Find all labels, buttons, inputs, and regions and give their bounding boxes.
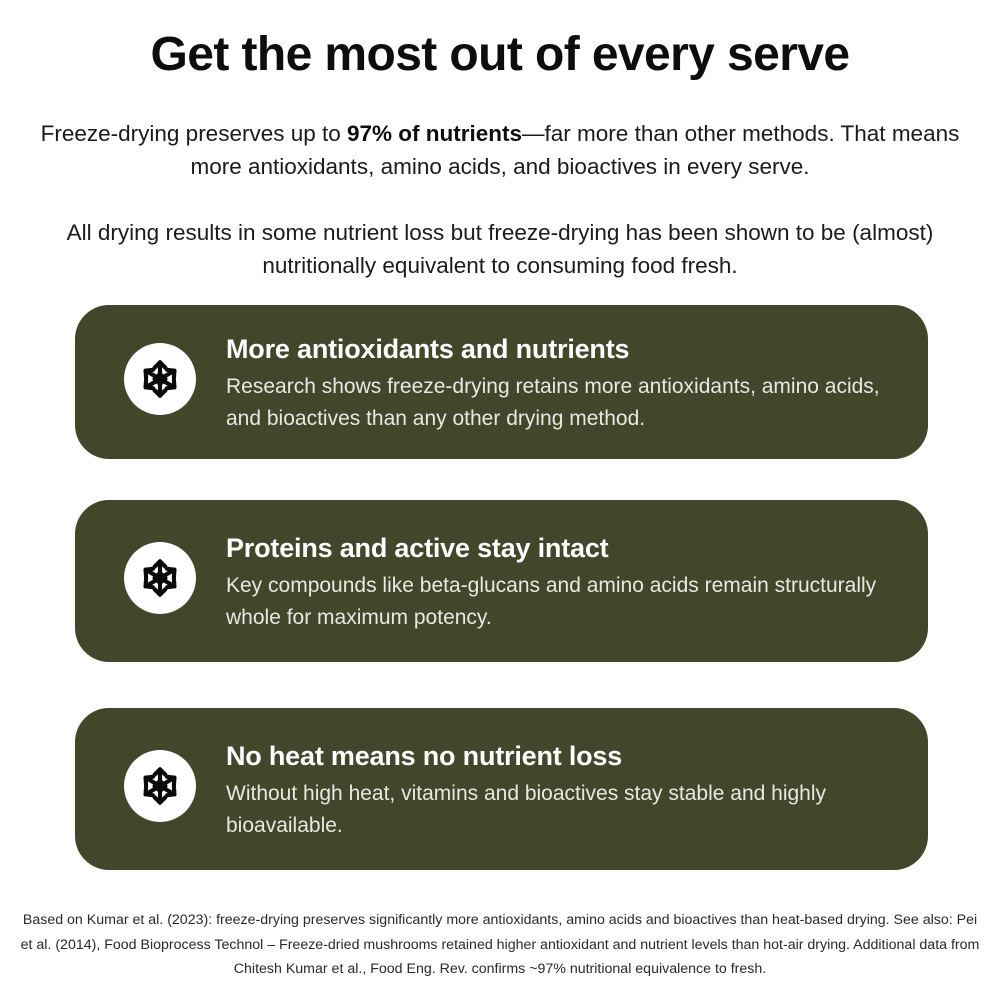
snowflake-icon-badge <box>124 343 196 415</box>
benefit-card-content: More antioxidants and nutrients Research… <box>196 305 928 435</box>
intro-paragraph-1: Freeze-drying preserves up to 97% of nut… <box>32 117 968 183</box>
benefit-card-title: Proteins and active stay intact <box>226 532 898 565</box>
intro-text-before: Freeze-drying preserves up to <box>41 121 347 146</box>
snowflake-icon-badge <box>124 542 196 614</box>
benefit-card-title: More antioxidants and nutrients <box>226 333 898 366</box>
snowflake-icon <box>140 359 180 399</box>
page-title: Get the most out of every serve <box>0 27 1000 84</box>
benefit-card: More antioxidants and nutrients Research… <box>75 305 928 459</box>
intro-paragraph-2: All drying results in some nutrient loss… <box>50 216 950 282</box>
benefit-card-content: No heat means no nutrient loss Without h… <box>196 708 928 842</box>
benefit-card: No heat means no nutrient loss Without h… <box>75 708 928 870</box>
snowflake-icon-badge <box>124 750 196 822</box>
benefit-card-body: Key compounds like beta-glucans and amin… <box>226 570 898 634</box>
benefit-card-body: Research shows freeze-drying retains mor… <box>226 371 898 435</box>
benefit-card-body: Without high heat, vitamins and bioactiv… <box>226 778 898 842</box>
snowflake-icon <box>140 766 180 806</box>
intro-highlight: 97% of nutrients <box>347 121 522 146</box>
benefit-card: Proteins and active stay intact Key comp… <box>75 500 928 662</box>
infographic-page: Get the most out of every serve Freeze-d… <box>0 0 1000 1000</box>
source-footnote: Based on Kumar et al. (2023): freeze-dry… <box>17 908 983 982</box>
benefit-card-content: Proteins and active stay intact Key comp… <box>196 500 928 634</box>
benefit-card-title: No heat means no nutrient loss <box>226 740 898 773</box>
benefit-card-list: More antioxidants and nutrients Research… <box>75 305 928 870</box>
snowflake-icon <box>140 558 180 598</box>
